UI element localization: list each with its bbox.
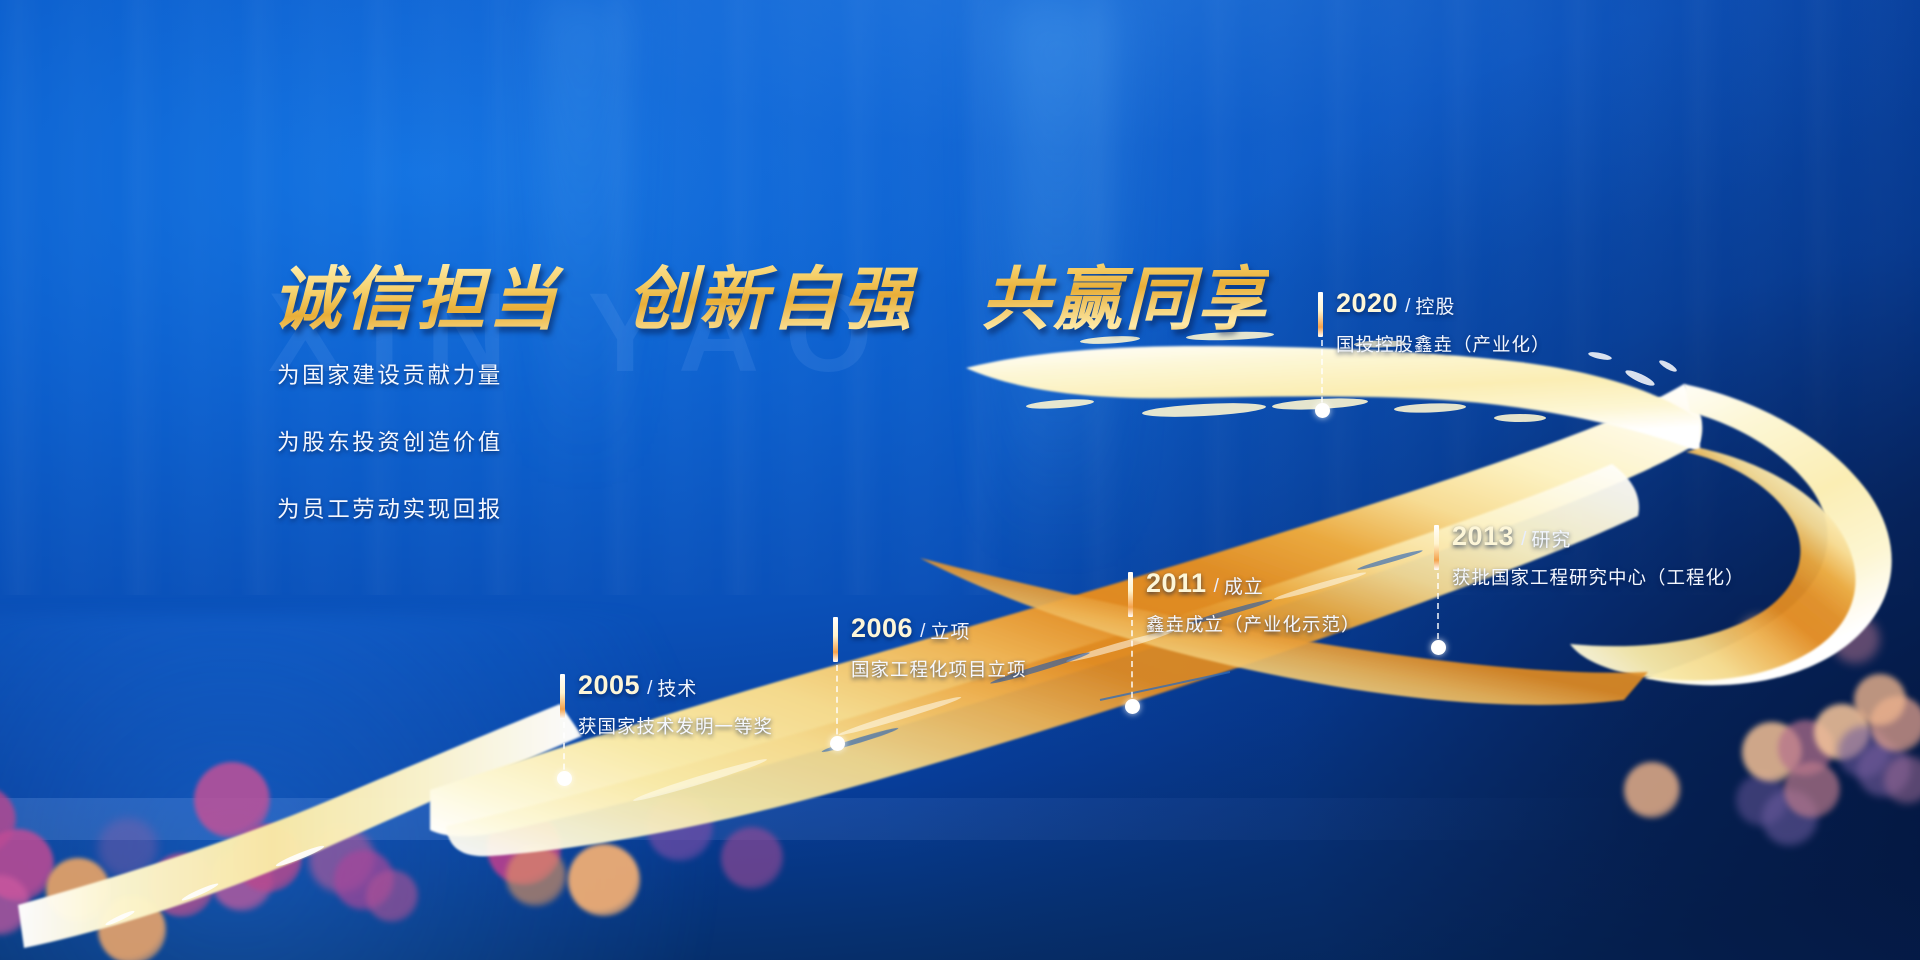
milestone-accent-bar-icon [560, 674, 565, 719]
milestone-description: 获批国家工程研究中心（工程化） [1452, 564, 1745, 590]
milestone-accent-bar-icon [833, 617, 838, 662]
headline-part-3: 共赢同享 [981, 262, 1269, 338]
milestone-dot[interactable] [1125, 699, 1140, 714]
milestone-category: 技术 [657, 680, 697, 699]
subtitle-line-1: 为国家建设贡献力量 [277, 358, 503, 390]
milestone-accent-bar-icon [1318, 292, 1323, 337]
milestone-year: 2013 [1452, 523, 1514, 550]
milestone-2013[interactable]: 2013/研究获批国家工程研究中心（工程化） [1452, 523, 1745, 590]
milestone-connector-line [1131, 620, 1133, 708]
milestone-separator: / [1405, 297, 1410, 316]
milestone-accent-bar-icon [1128, 572, 1133, 617]
milestone-2005[interactable]: 2005/技术获国家技术发明一等奖 [578, 672, 773, 739]
milestone-description: 国投控股鑫垚（产业化） [1336, 331, 1551, 357]
banner-stage: XIN YAO 诚信担当 创新自强 共赢同享 为国家建设贡献力量 为股东投资创造… [0, 0, 1920, 960]
milestone-connector-line [836, 665, 838, 745]
milestone-description: 国家工程化项目立项 [851, 656, 1027, 682]
milestone-year: 2011 [1146, 570, 1207, 597]
milestone-dot[interactable] [1431, 640, 1446, 655]
milestone-header: 2020/控股 [1336, 290, 1551, 317]
milestone-connector-line [1437, 573, 1439, 649]
headline-part-1: 诚信担当 [272, 262, 560, 338]
milestone-separator: / [1521, 530, 1526, 549]
headline-part-2: 创新自强 [627, 262, 915, 338]
milestone-accent-bar-icon [1434, 525, 1439, 570]
milestone-description: 鑫垚成立（产业化示范） [1146, 611, 1361, 637]
milestone-category: 成立 [1224, 578, 1264, 597]
milestone-dot[interactable] [830, 736, 845, 751]
milestone-year: 2020 [1336, 290, 1398, 317]
milestone-header: 2006/立项 [851, 615, 1027, 642]
milestone-2020[interactable]: 2020/控股国投控股鑫垚（产业化） [1336, 290, 1551, 357]
milestone-separator: / [1214, 577, 1219, 596]
subtitle-line-3: 为员工劳动实现回报 [277, 492, 503, 524]
milestone-dot[interactable] [557, 771, 572, 786]
milestone-2006[interactable]: 2006/立项国家工程化项目立项 [851, 615, 1027, 682]
milestone-header: 2011/成立 [1146, 570, 1361, 597]
subtitle-line-2: 为股东投资创造价值 [277, 425, 503, 457]
page-title: 诚信担当 创新自强 共赢同享 [272, 243, 1269, 343]
milestone-category: 立项 [930, 623, 970, 642]
milestone-description: 获国家技术发明一等奖 [578, 713, 773, 739]
milestone-category: 研究 [1531, 531, 1571, 550]
milestone-separator: / [647, 679, 652, 698]
milestone-header: 2013/研究 [1452, 523, 1745, 550]
milestone-connector-line [1321, 340, 1323, 412]
milestone-year: 2006 [851, 615, 913, 642]
milestone-header: 2005/技术 [578, 672, 773, 699]
milestone-category: 控股 [1415, 298, 1455, 317]
subtitle-list: 为国家建设贡献力量 为股东投资创造价值 为员工劳动实现回报 [277, 358, 503, 559]
milestone-year: 2005 [578, 672, 640, 699]
milestone-dot[interactable] [1315, 403, 1330, 418]
milestone-2011[interactable]: 2011/成立鑫垚成立（产业化示范） [1146, 570, 1361, 637]
milestone-separator: / [920, 622, 925, 641]
